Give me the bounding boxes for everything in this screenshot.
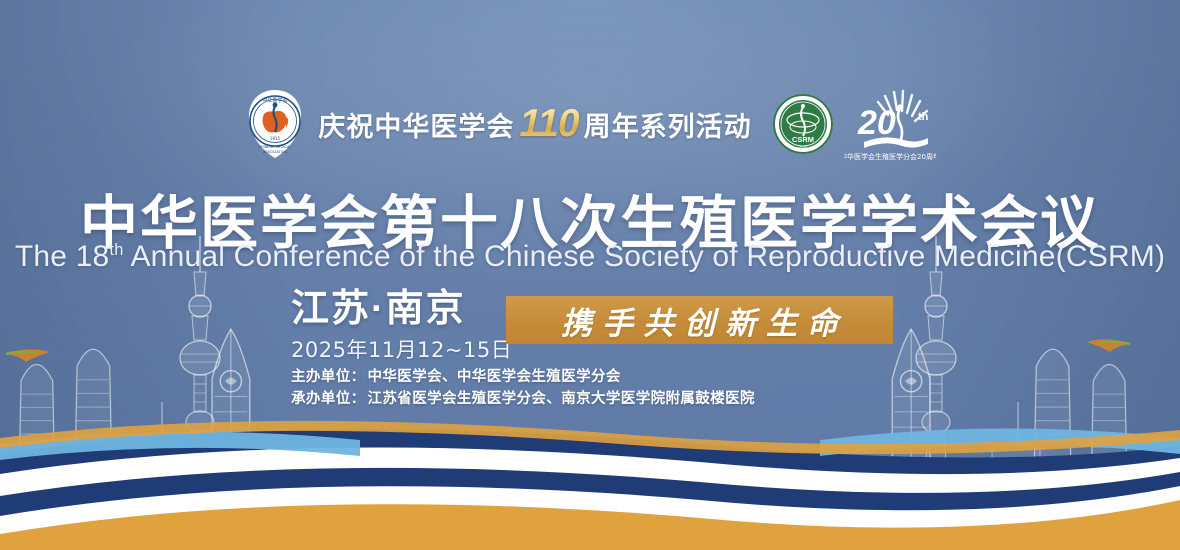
csrm-20th-anniversary-icon: 20 th 中华医学会生殖医学分会20周年 — [844, 84, 936, 164]
logo-row: 中华医学会 1915 CHINESE MEDICAL ASSOCIATION 庆… — [0, 84, 1180, 164]
organizer-undertaker-line: 承办单位：江苏省医学会生殖医学分会、南京大学医学院附属鼓楼医院 — [291, 388, 755, 410]
subtitle-post: Annual Conference of the Chinese Society… — [124, 240, 1166, 273]
svg-text:CHINESE MEDICAL: CHINESE MEDICAL — [259, 145, 292, 149]
svg-text:中华医学会: 中华医学会 — [263, 97, 288, 104]
svg-text:中华医学会生殖医学分会20周年: 中华医学会生殖医学分会20周年 — [844, 152, 936, 161]
event-slogan: 携手共创新生命 — [551, 298, 848, 343]
organizer-undertaker-label: 承办单位： — [291, 391, 366, 407]
organizer-undertaker-value: 江苏省医学会生殖医学分会、南京大学医学院附属鼓楼医院 — [368, 391, 755, 407]
organizer-host-label: 主办单位： — [291, 369, 366, 385]
event-location: 江苏·南京 — [291, 290, 512, 330]
svg-text:2005: 2005 — [799, 145, 807, 149]
organizers-block: 主办单位：中华医学会、中华医学会生殖医学分会 承办单位：江苏省医学会生殖医学分会… — [291, 366, 755, 410]
subtitle-pre: The 18 — [15, 240, 110, 273]
anniversary-prefix: 庆祝中华医学会 — [318, 105, 514, 144]
anniversary-suffix: 周年系列活动 — [584, 105, 752, 144]
event-location-block: 江苏·南京 2025年11月12~15日 — [291, 290, 512, 364]
cma-110-anniversary-text: 庆祝中华医学会 110 周年系列活动 — [318, 102, 751, 146]
organizer-host-value: 中华医学会、中华医学会生殖医学分会 — [368, 369, 621, 385]
svg-text:th: th — [918, 111, 929, 123]
csrm-seal-icon: CSRM 2005 — [772, 93, 834, 155]
anniversary-number: 110 — [519, 102, 578, 146]
svg-text:1915: 1915 — [270, 136, 281, 141]
svg-text:20: 20 — [857, 104, 896, 142]
page-subtitle-english: The 18th Annual Conference of the Chines… — [0, 240, 1180, 274]
event-date: 2025年11月12~15日 — [291, 334, 512, 364]
event-slogan-banner: 携手共创新生命 — [506, 296, 893, 344]
svg-text:CSRM: CSRM — [792, 135, 814, 144]
organizer-host-line: 主办单位：中华医学会、中华医学会生殖医学分会 — [291, 366, 755, 388]
cma-emblem-icon: 中华医学会 1915 CHINESE MEDICAL ASSOCIATION — [244, 88, 306, 160]
conference-banner: 中华医学会 1915 CHINESE MEDICAL ASSOCIATION 庆… — [0, 0, 1180, 550]
svg-text:ASSOCIATION: ASSOCIATION — [263, 150, 288, 154]
subtitle-ordinal: th — [109, 241, 123, 259]
